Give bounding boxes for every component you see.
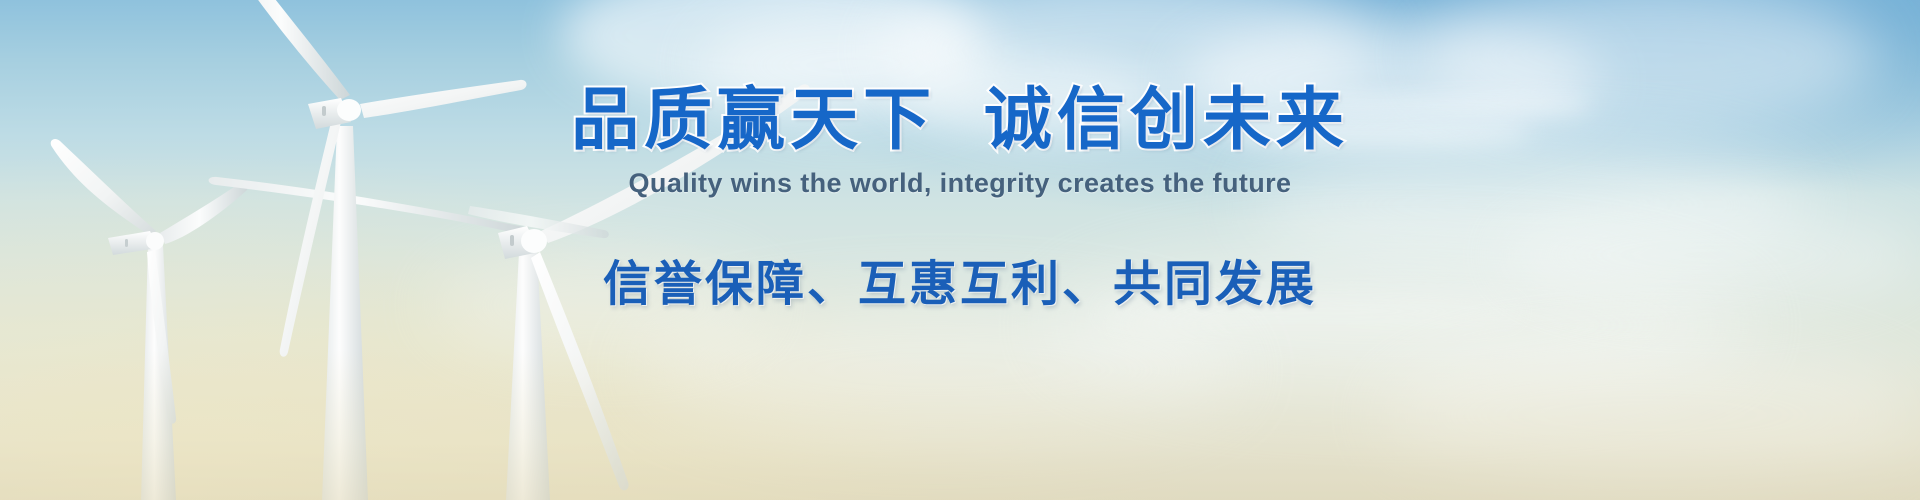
- promo-banner: 品质赢天下 诚信创未来 Quality wins the world, inte…: [0, 0, 1920, 500]
- sky-blue-highlight: [0, 0, 1920, 500]
